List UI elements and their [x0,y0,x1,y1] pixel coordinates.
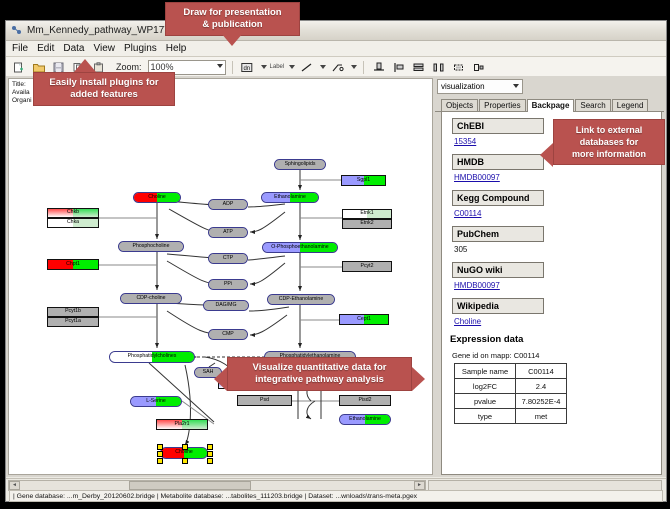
pathway-canvas[interactable]: Title: Availa Organi [8,78,433,475]
node-label: SAH [203,370,214,375]
gene-node-etnk2[interactable]: Etnk2 [342,219,392,229]
group-icon[interactable] [450,59,467,76]
db-link-nugo-wiki[interactable]: HMDB00097 [454,281,661,290]
callout-draw: Draw for presentation& publication [165,2,300,36]
metabolite-node-o-phosphoethanolamine[interactable]: O-Phosphoethanolamine [262,242,338,253]
node-label: Phosphatidylcholines [128,354,177,359]
callout-plugins-arrow [74,59,96,72]
node-label: PPi [224,282,232,287]
metabolite-node-cmp[interactable]: CMP [208,329,248,340]
pathvisio-icon [11,25,22,36]
callout-visualize-text: Visualize quantitative data forintegrati… [253,362,387,385]
metabolite-node-ctp[interactable]: CTP [208,253,248,264]
node-label: ATP [223,230,233,235]
callout-visualize-arrow-left [214,367,227,391]
gene-node-pcyt1b[interactable]: Pcyt1b [47,307,99,317]
chevron-down-icon [217,64,223,68]
db-link-hmdb[interactable]: HMDB00097 [454,173,661,182]
node-label: ADP [223,202,234,207]
node-label: Phosphocholine [133,244,170,249]
gene-node-pcyt1a[interactable]: Pcyt1a [47,317,99,327]
db-value-pubchem: 305 [454,245,661,254]
selection-handle[interactable] [157,444,163,450]
selection-handle[interactable] [157,458,163,464]
metabolite-node-cdp-choline[interactable]: CDP-choline [120,293,182,304]
node-label: Ethanolamine [349,417,381,422]
visualization-combo[interactable]: visualization [437,79,523,94]
tab-properties[interactable]: Properties [479,99,525,111]
node-label: Chkb [67,210,79,215]
node-label: Pla2r1 [175,422,190,427]
screenshot-root: Mm_Kennedy_pathway_WP1771_45176.gpml Fil… [0,0,670,509]
node-label: Etnk1 [360,211,373,216]
chevron-down-icon [513,84,519,88]
expression-value: C00114 [516,364,567,379]
gene-id-on-mapp: Gene id on mapp: C00114 [452,351,661,360]
callout-plugins: Easily install plugins foradded features [33,72,175,106]
metabolite-node-phosphocholine[interactable]: Phosphocholine [118,241,184,252]
tab-backpage[interactable]: Backpage [527,99,575,112]
tab-objects[interactable]: Objects [441,99,478,111]
menu-item-edit[interactable]: Edit [37,43,54,54]
expression-data-heading: Expression data [450,334,661,345]
db-link-wikipedia[interactable]: Choline [454,317,661,326]
anchor-tool-icon[interactable] [329,59,346,76]
db-header-nugo-wiki: NuGO wiki [452,262,544,278]
callout-draw-text: Draw for presentation& publication [183,7,281,30]
db-header-hmdb: HMDB [452,154,544,170]
tab-search[interactable]: Search [575,99,610,111]
expression-table: Sample name C00114 log2FC 2.4 pvalue 7.8… [454,363,567,424]
table-row: pvalue 7.80252E-4 [455,394,567,409]
info-label-available: Availa [12,89,32,97]
metabolite-node-cdp-ethanolamine[interactable]: CDP-Ethanolamine [267,294,335,305]
node-label: CDP-Ethanolamine [279,297,323,302]
gene-node-sgpl1[interactable]: Sgpl1 [341,175,386,186]
node-label: Pcyt2 [361,264,374,269]
metabolite-node-ethanolamine[interactable]: Ethanolamine [261,192,319,203]
node-label: Cept1 [357,317,371,322]
scroll-thumb[interactable] [129,481,251,490]
gene-node-psd[interactable]: Psd [237,395,292,406]
svg-text:dn: dn [243,66,250,72]
db-header-pubchem: PubChem [452,226,544,242]
db-header-kegg-compound: Kegg Compound [452,190,544,206]
expression-value: 2.4 [516,379,567,394]
gene-node-pla2r1[interactable]: Pla2r1 [156,419,208,430]
tab-legend[interactable]: Legend [612,99,649,111]
scroll-right-button[interactable]: ► [414,481,425,490]
node-label: Choline [148,195,166,200]
node-label: Chpt1 [66,262,80,267]
metabolite-node-choline[interactable]: Choline [133,192,181,203]
callout-draw-arrow [221,33,243,46]
metabolite-node-atp[interactable]: ATP [208,227,248,238]
gene-node-chka[interactable]: Chka [47,218,99,228]
new-file-icon[interactable] [10,59,27,76]
callout-visualize-arrow-right [412,367,425,391]
callout-visualize: Visualize quantitative data forintegrati… [227,357,412,391]
gene-node-pcyt2[interactable]: Pcyt2 [342,261,392,272]
node-label: CMP [222,332,234,337]
ungroup-icon[interactable] [470,59,487,76]
pathway-info-labels: Title: Availa Organi [12,81,32,105]
distribute-horizontal-icon[interactable] [430,59,447,76]
zoom-value: 100% [151,62,174,72]
selection-handle[interactable] [182,444,188,450]
callout-link-text: Link to externaldatabases formore inform… [572,125,646,159]
callout-link-arrow [540,143,553,167]
callout-plugins-text: Easily install plugins foradded features [49,77,158,100]
expression-key: pvalue [455,394,516,409]
chevron-down-icon[interactable] [320,65,326,69]
node-label: Sphingolipids [285,162,316,167]
metabolite-node-phosphatidylcholines[interactable]: Phosphatidylcholines [109,351,195,363]
node-label: Pisd2 [359,398,372,403]
menu-item-file[interactable]: File [12,43,28,54]
table-row: Sample name C00114 [455,364,567,379]
metabolite-node-ppi[interactable]: PPi [208,279,248,290]
node-label: CTP [223,256,233,261]
selection-handle[interactable] [207,444,213,450]
node-label: O-Phosphoethanolamine [271,245,328,250]
line-tool-icon[interactable] [298,59,315,76]
chevron-down-icon[interactable] [289,65,295,69]
gene-node-cept1[interactable]: Cept1 [339,314,389,325]
align-top-icon[interactable] [370,59,387,76]
info-label-organism: Organi [12,97,32,105]
info-label-title: Title: [12,81,32,89]
table-row: log2FC 2.4 [455,379,567,394]
expression-value: met [516,409,567,424]
node-label: Psd [260,398,269,403]
menu-item-plugins[interactable]: Plugins [124,43,157,54]
zoom-label: Zoom: [116,62,142,72]
node-label: Pcyt1a [65,319,81,324]
node-label: Ethanolamine [274,195,306,200]
status-text: | Gene database: ...m_Derby_20120602.bri… [9,490,663,502]
align-left-icon[interactable] [390,59,407,76]
side-panel-tabs: Objects Properties Backpage Search Legen… [435,97,664,112]
expression-value: 7.80252E-4 [516,394,567,409]
node-label: Sgpl1 [357,178,370,183]
toolbar-separator [363,61,364,74]
db-header-chebi: ChEBI [452,118,544,134]
metabolite-node-dag-mg[interactable]: DAG/MG [203,300,249,311]
selection-handle[interactable] [157,451,163,457]
menu-item-data[interactable]: Data [63,43,84,54]
gene-node-etnk1[interactable]: Etnk1 [342,209,392,219]
node-label: Choline [175,450,193,455]
stack-vertical-icon[interactable] [410,59,427,76]
scroll-left-button[interactable]: ◄ [9,481,20,490]
title-bar: Mm_Kennedy_pathway_WP1771_45176.gpml [6,21,666,41]
db-header-wikipedia: Wikipedia [452,298,544,314]
datanode-icon[interactable]: dn [239,59,256,76]
visualization-combo-value: visualization [441,82,485,91]
metabolite-node-l-serine[interactable]: L-Serine [130,396,182,407]
db-link-kegg-compound[interactable]: C00114 [454,209,661,218]
metabolite-node-adp[interactable]: ADP [208,199,248,210]
node-label: Pcyt1b [65,309,81,314]
expression-key: type [455,409,516,424]
selection-handle[interactable] [207,458,213,464]
menu-item-help[interactable]: Help [166,43,187,54]
label-dropdown-text[interactable]: Label [270,64,285,70]
expression-key: Sample name [455,364,516,379]
selection-handle[interactable] [207,451,213,457]
status-bar: ◄ ► | Gene database: ...m_Derby_20120602… [6,478,666,501]
menu-item-view[interactable]: View [93,43,115,54]
chevron-down-icon[interactable] [261,65,267,69]
gene-node-chkb[interactable]: Chkb [47,208,99,218]
node-label: L-Serine [146,399,166,404]
selection-handle[interactable] [182,458,188,464]
node-label: Etnk2 [360,221,373,226]
metabolite-node-ethanolamine[interactable]: Ethanolamine [339,414,391,425]
expression-key: log2FC [455,379,516,394]
node-label: CDP-choline [136,296,165,301]
callout-link: Link to externaldatabases formore inform… [553,119,665,165]
gene-node-chpt1[interactable]: Chpt1 [47,259,99,270]
table-row: type met [455,409,567,424]
node-label: DAG/MG [215,303,236,308]
metabolite-node-sphingolipids[interactable]: Sphingolipids [274,159,326,170]
menu-bar: File Edit Data View Plugins Help [6,41,666,57]
chevron-down-icon[interactable] [351,65,357,69]
node-label: Chka [67,220,79,225]
toolbar-separator [232,61,233,74]
gene-node-pisd2[interactable]: Pisd2 [339,395,391,406]
